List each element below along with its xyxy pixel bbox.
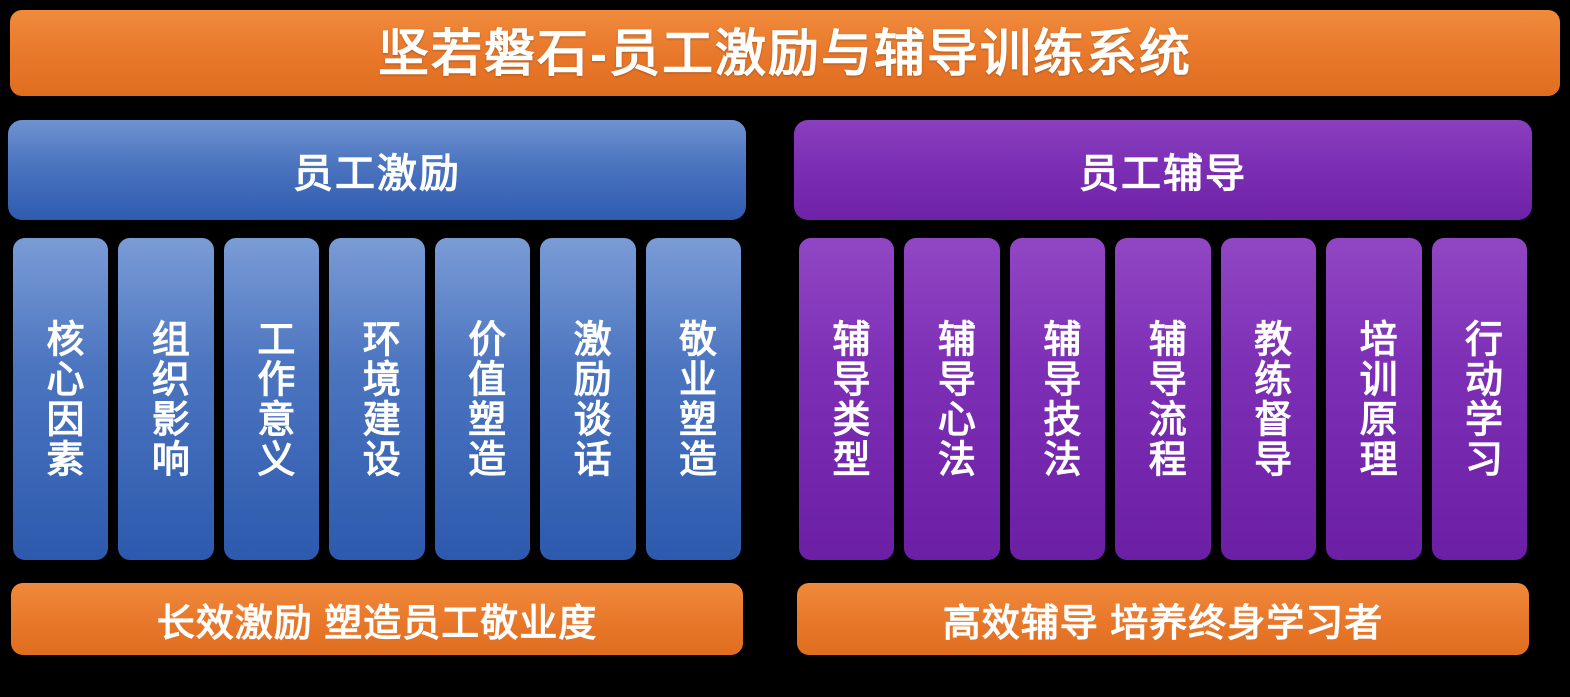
list-item[interactable]: 辅导心法 bbox=[904, 238, 999, 560]
list-item-label: 环境建设 bbox=[356, 319, 399, 479]
list-item-label: 激励谈话 bbox=[567, 319, 610, 479]
column-employee-coaching: 员工辅导 辅导类型 辅导心法 辅导技法 辅导流程 教练督导 培训原理 行动学习 bbox=[794, 120, 1532, 685]
item-list-right: 辅导类型 辅导心法 辅导技法 辅导流程 教练督导 培训原理 行动学习 bbox=[794, 238, 1532, 560]
diagram-title-bar: 坚若磐石-员工激励与辅导训练系统 bbox=[10, 10, 1560, 96]
list-item[interactable]: 辅导技法 bbox=[1010, 238, 1105, 560]
list-item[interactable]: 核心因素 bbox=[13, 238, 108, 560]
list-item[interactable]: 工作意义 bbox=[224, 238, 319, 560]
column-footer-right-label: 高效辅导 培养终身学习者 bbox=[943, 592, 1384, 647]
list-item-label: 行动学习 bbox=[1458, 319, 1501, 479]
column-footer-right: 高效辅导 培养终身学习者 bbox=[797, 583, 1529, 655]
list-item-label: 工作意义 bbox=[250, 319, 293, 479]
column-header-left: 员工激励 bbox=[8, 120, 746, 220]
list-item-label: 教练督导 bbox=[1247, 319, 1290, 479]
list-item-label: 核心因素 bbox=[39, 319, 82, 479]
list-item[interactable]: 辅导流程 bbox=[1115, 238, 1210, 560]
list-item[interactable]: 价值塑造 bbox=[435, 238, 530, 560]
column-footer-left-label: 长效激励 塑造员工敬业度 bbox=[157, 592, 598, 647]
list-item[interactable]: 激励谈话 bbox=[540, 238, 635, 560]
list-item[interactable]: 组织影响 bbox=[118, 238, 213, 560]
column-footer-left: 长效激励 塑造员工敬业度 bbox=[11, 583, 743, 655]
list-item-label: 辅导心法 bbox=[931, 319, 974, 479]
item-list-left: 核心因素 组织影响 工作意义 环境建设 价值塑造 激励谈话 敬业塑造 bbox=[8, 238, 746, 560]
list-item[interactable]: 环境建设 bbox=[329, 238, 424, 560]
list-item-label: 辅导类型 bbox=[825, 319, 868, 479]
list-item[interactable]: 敬业塑造 bbox=[646, 238, 741, 560]
column-header-right-label: 员工辅导 bbox=[1079, 141, 1247, 199]
list-item-label: 培训原理 bbox=[1353, 319, 1396, 479]
page-title: 坚若磐石-员工激励与辅导训练系统 bbox=[378, 28, 1192, 79]
list-item-label: 敬业塑造 bbox=[672, 319, 715, 479]
list-item-label: 组织影响 bbox=[145, 319, 188, 479]
list-item[interactable]: 行动学习 bbox=[1432, 238, 1527, 560]
list-item-label: 价值塑造 bbox=[461, 319, 504, 479]
list-item-label: 辅导技法 bbox=[1036, 319, 1079, 479]
list-item[interactable]: 教练督导 bbox=[1221, 238, 1316, 560]
diagram-canvas: 坚若磐石-员工激励与辅导训练系统 员工激励 核心因素 组织影响 工作意义 环境建… bbox=[0, 0, 1570, 697]
list-item[interactable]: 培训原理 bbox=[1326, 238, 1421, 560]
column-employee-motivation: 员工激励 核心因素 组织影响 工作意义 环境建设 价值塑造 激励谈话 敬业塑造 bbox=[8, 120, 746, 685]
list-item-label: 辅导流程 bbox=[1142, 319, 1185, 479]
column-header-left-label: 员工激励 bbox=[293, 141, 461, 199]
list-item[interactable]: 辅导类型 bbox=[799, 238, 894, 560]
column-header-right: 员工辅导 bbox=[794, 120, 1532, 220]
